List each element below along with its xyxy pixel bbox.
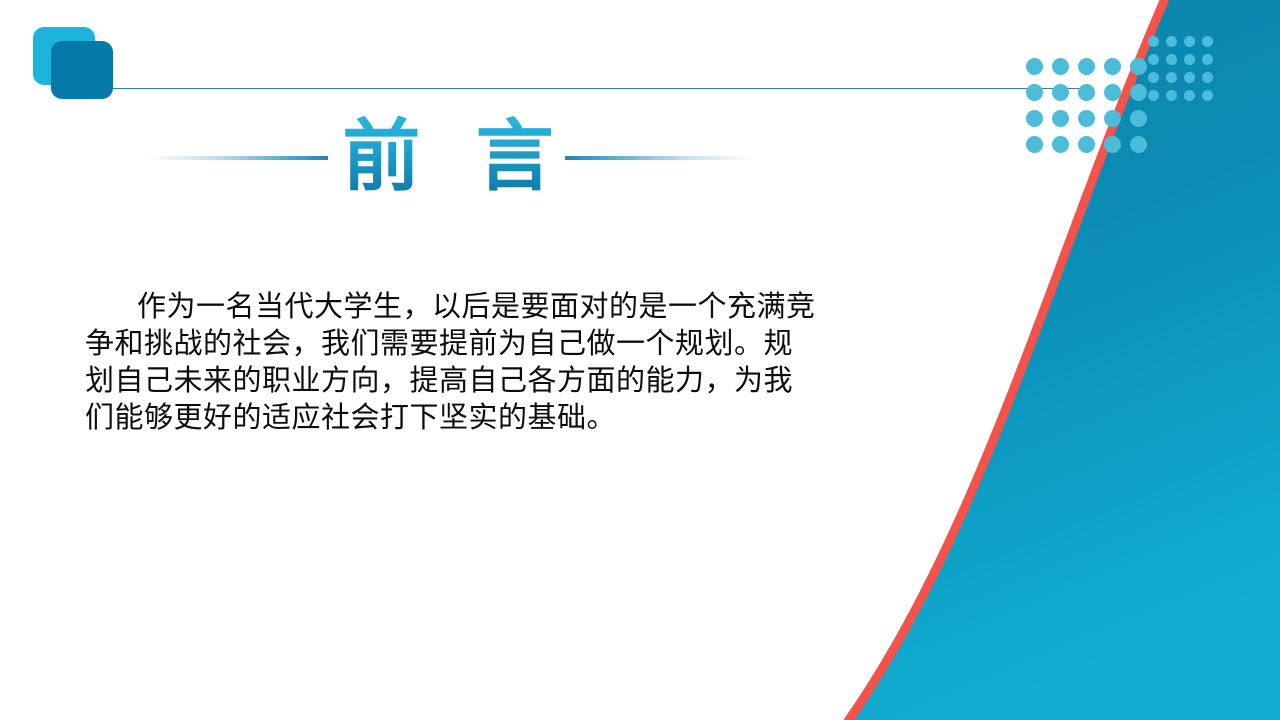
decorative-dot [1202,72,1213,83]
decorative-dot [1202,36,1213,47]
decorative-dot [1078,136,1095,153]
decorative-dot [1130,84,1147,101]
decorative-dot [1166,54,1177,65]
decorative-dot [1104,110,1121,127]
logo-square-front [51,41,113,99]
title-block: 前 言 [0,112,900,212]
decorative-dot [1148,72,1159,83]
decorative-dot [1026,110,1043,127]
decorative-dot [1130,110,1147,127]
decorative-dot [1148,36,1159,47]
decorative-dot [1026,58,1043,75]
dot-grid-small [1148,36,1220,108]
decorative-dot [1202,90,1213,101]
decorative-dot [1148,54,1159,65]
title-rule-left [148,156,328,160]
decorative-dot [1104,84,1121,101]
decorative-dot [1166,72,1177,83]
decorative-dot [1026,84,1043,101]
body-line: 们能够更好的适应社会打下坚实的基础。 [85,399,885,436]
decorative-dot [1052,58,1069,75]
decorative-dot [1166,36,1177,47]
decorative-dot [1148,90,1159,101]
decorative-dot [1184,90,1195,101]
decorative-dot [1202,54,1213,65]
decorative-dot [1104,58,1121,75]
decorative-dot [1052,110,1069,127]
decorative-dot [1052,136,1069,153]
decorative-dot [1052,84,1069,101]
decorative-dot [1166,90,1177,101]
body-line: 争和挑战的社会，我们需要提前为自己做一个规划。规 [85,325,885,362]
body-line: 划自己未来的职业方向，提高自己各方面的能力，为我 [85,362,885,399]
logo-mark [33,27,113,99]
decorative-dot [1078,58,1095,75]
page-title: 前 言 [340,102,570,212]
decorative-dot [1078,84,1095,101]
body-line: 作为一名当代大学生，以后是要面对的是一个充满竞 [85,288,885,325]
decorative-dot [1078,110,1095,127]
slide-canvas: 前 言 作为一名当代大学生，以后是要面对的是一个充满竞 争和挑战的社会，我们需要… [0,0,1280,720]
dot-grid-large [1026,58,1156,162]
decorative-dot [1184,54,1195,65]
body-paragraph: 作为一名当代大学生，以后是要面对的是一个充满竞 争和挑战的社会，我们需要提前为自… [85,288,885,436]
decorative-dot [1026,136,1043,153]
header-divider [113,88,1086,89]
decorative-dot [1184,36,1195,47]
decorative-dot [1184,72,1195,83]
decorative-dot [1130,58,1147,75]
title-rule-right [565,156,755,160]
decorative-dot [1104,136,1121,153]
decorative-dot [1130,136,1147,153]
